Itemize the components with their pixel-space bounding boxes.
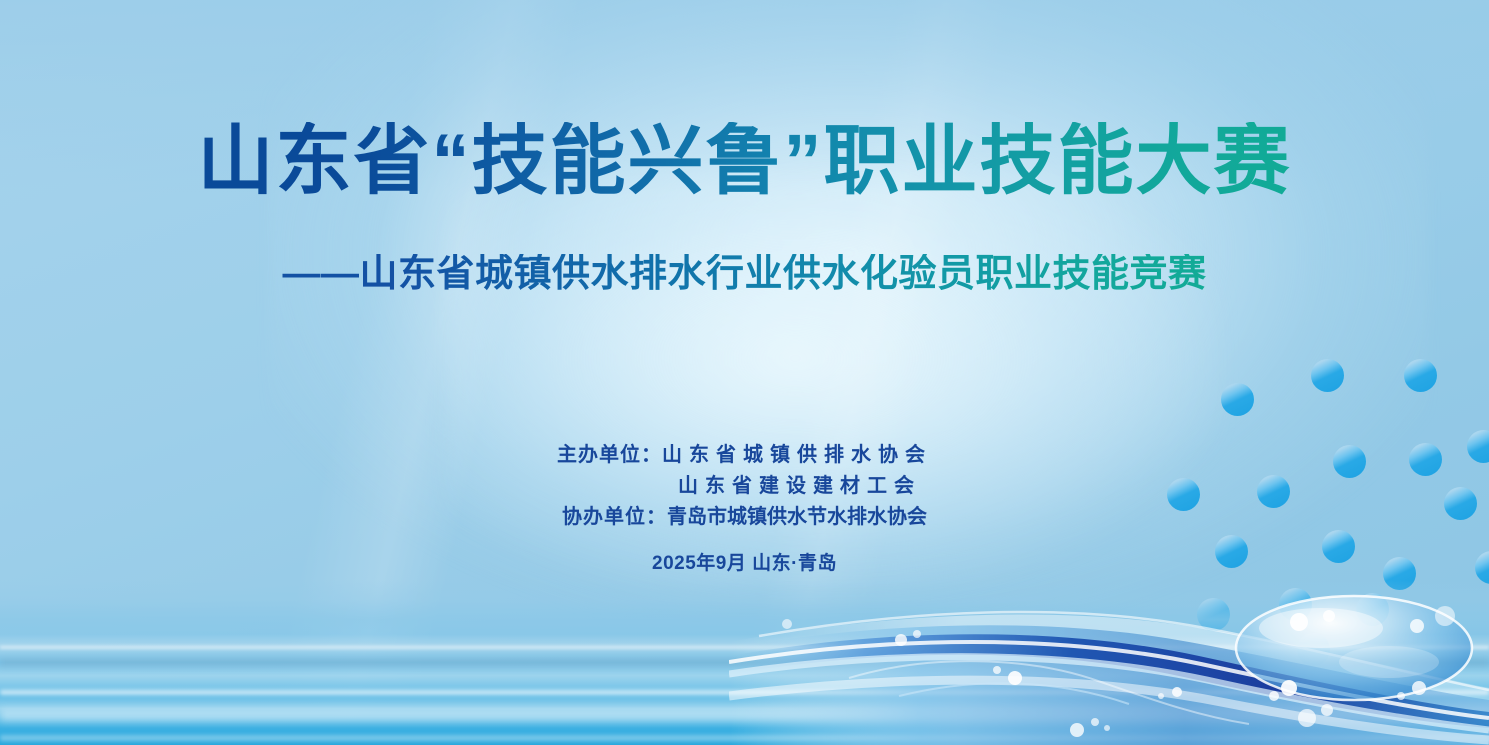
date-location: 2025年9月 山东·青岛 [0, 550, 1489, 578]
droplet-dot-3 [1404, 359, 1437, 392]
page-title: 山东省“技能兴鲁”职业技能大赛 [198, 122, 1292, 203]
droplet-dot-2 [1311, 359, 1344, 392]
co-host-line: 协办单位：青岛市城镇供水节水排水协会 [0, 502, 1489, 533]
host-name-2: 山东省建设建材工会 [678, 475, 921, 497]
organizer-block: 主办单位：山东省城镇供排水协会 山东省建设建材工会 协办单位：青岛市城镇供水节水… [0, 440, 1489, 578]
competition-poster: 山东省“技能兴鲁”职业技能大赛 ——山东省城镇供水排水行业供水化验员职业技能竞赛… [0, 0, 1489, 745]
large-water-bubble [1236, 596, 1472, 700]
co-host-label: 协办单位： [562, 506, 667, 528]
host-line-1: 主办单位：山东省城镇供排水协会 [0, 440, 1489, 471]
co-host-name: 青岛市城镇供水节水排水协会 [667, 506, 927, 528]
host-name-1: 山东省城镇供排水协会 [662, 444, 932, 466]
page-subtitle: ——山东省城镇供水排水行业供水化验员职业技能竞赛 [282, 254, 1206, 296]
host-label: 主办单位： [557, 444, 662, 466]
sub-title-row: ——山东省城镇供水排水行业供水化验员职业技能竞赛 [0, 254, 1489, 296]
host-line-2: 山东省建设建材工会 [0, 471, 1489, 502]
droplet-dot-1 [1221, 383, 1254, 416]
water-wave-svg [729, 570, 1489, 745]
main-title-row: 山东省“技能兴鲁”职业技能大赛 [0, 122, 1489, 203]
